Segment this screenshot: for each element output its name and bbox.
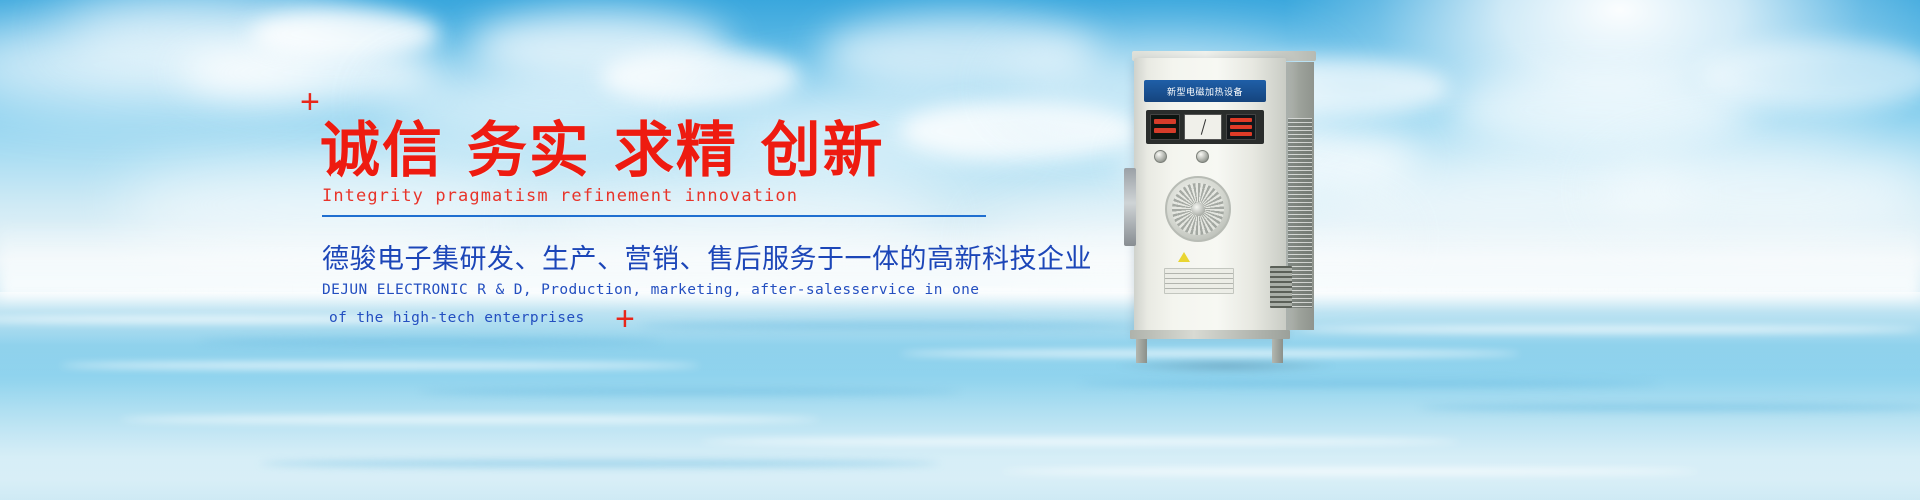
lead-text-chinese: 德骏电子集研发、生产、营销、售后服务于一体的高新科技企业	[322, 237, 1092, 276]
hero-banner: + 诚信 务实 求精 创新 Integrity pragmatism refin…	[0, 0, 1920, 500]
cooling-fan-grille	[1165, 176, 1231, 242]
control-knob-2	[1196, 150, 1209, 163]
machine-spec-plate	[1164, 268, 1234, 294]
page-title: 诚信 务实 求精 创新	[320, 118, 885, 185]
warning-triangle-icon	[1178, 252, 1190, 262]
machine-name-plate-label: 新型电磁加热设备	[1167, 85, 1243, 98]
lead-text-english-line1: DEJUN ELECTRONIC R & D, Production, mark…	[322, 276, 1002, 304]
product-shadow	[1116, 358, 1336, 374]
product-image-induction-heater: 新型电磁加热设备	[1120, 58, 1320, 358]
machine-control-knobs	[1150, 150, 1260, 166]
page-subtitle: Integrity pragmatism refinement innovati…	[322, 186, 798, 206]
machine-base	[1130, 330, 1290, 339]
lead-text-english: DEJUN ELECTRONIC R & D, Production, mark…	[322, 276, 1002, 333]
digital-display-right	[1226, 114, 1256, 140]
lead-text-english-line2: of the high-tech enterprises	[322, 304, 1002, 332]
analog-gauge	[1184, 114, 1222, 140]
machine-leg-left	[1136, 339, 1147, 363]
machine-side-strip	[1124, 168, 1136, 246]
machine-lower-vent	[1270, 266, 1292, 308]
digital-display-left	[1150, 114, 1180, 140]
banner-text-block: + 诚信 务实 求精 创新 Integrity pragmatism refin…	[0, 0, 1100, 500]
divider	[322, 215, 986, 217]
machine-control-panel	[1146, 110, 1264, 144]
control-knob-1	[1154, 150, 1167, 163]
plus-decoration-icon-secondary: +	[615, 302, 635, 336]
machine-name-plate: 新型电磁加热设备	[1144, 80, 1266, 102]
plus-decoration-icon: +	[300, 85, 320, 119]
machine-leg-right	[1272, 339, 1283, 363]
